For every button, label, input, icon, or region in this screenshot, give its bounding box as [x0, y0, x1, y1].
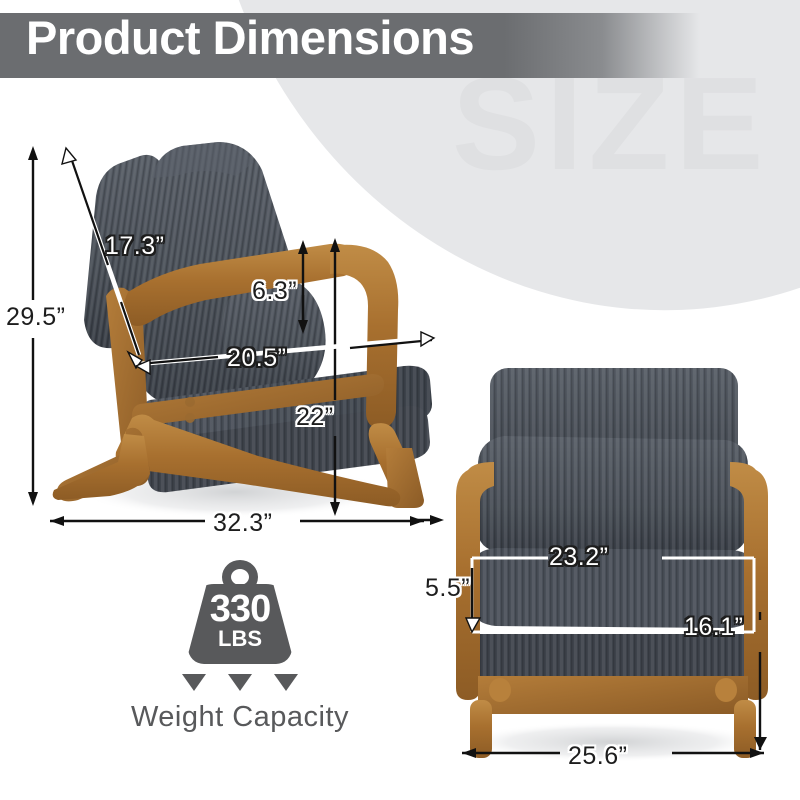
product-dimensions-infographic: SIZE Product Dimensions: [0, 0, 800, 800]
dim-seat-width: 23.2”: [549, 543, 608, 572]
dim-seat-height-front: 16.1”: [684, 613, 743, 642]
weight-icon: 330 LBS: [180, 560, 300, 670]
dim-arm-height: 22”: [296, 403, 334, 432]
dim-overall-width: 25.6”: [568, 742, 627, 771]
weight-capacity-block: 330 LBS Weight Capacity: [95, 560, 385, 734]
down-triangle-icon: [274, 674, 298, 691]
weight-unit: LBS: [180, 628, 300, 650]
weight-arrows: [95, 674, 385, 691]
down-triangle-icon: [182, 674, 206, 691]
dim-seat-depth: 20.5”: [227, 344, 286, 373]
dim-overall-height: 29.5”: [6, 303, 65, 332]
weight-capacity-caption: Weight Capacity: [95, 701, 385, 734]
page-title: Product Dimensions: [26, 14, 474, 61]
dim-overall-depth: 32.3”: [213, 509, 272, 538]
dim-armrest-clearance: 6.3”: [252, 277, 297, 306]
dim-cushion-thickness: 5.5”: [425, 574, 470, 603]
weight-value: 330: [180, 590, 300, 628]
dim-backrest-height: 17.3”: [105, 232, 164, 261]
down-triangle-icon: [228, 674, 252, 691]
